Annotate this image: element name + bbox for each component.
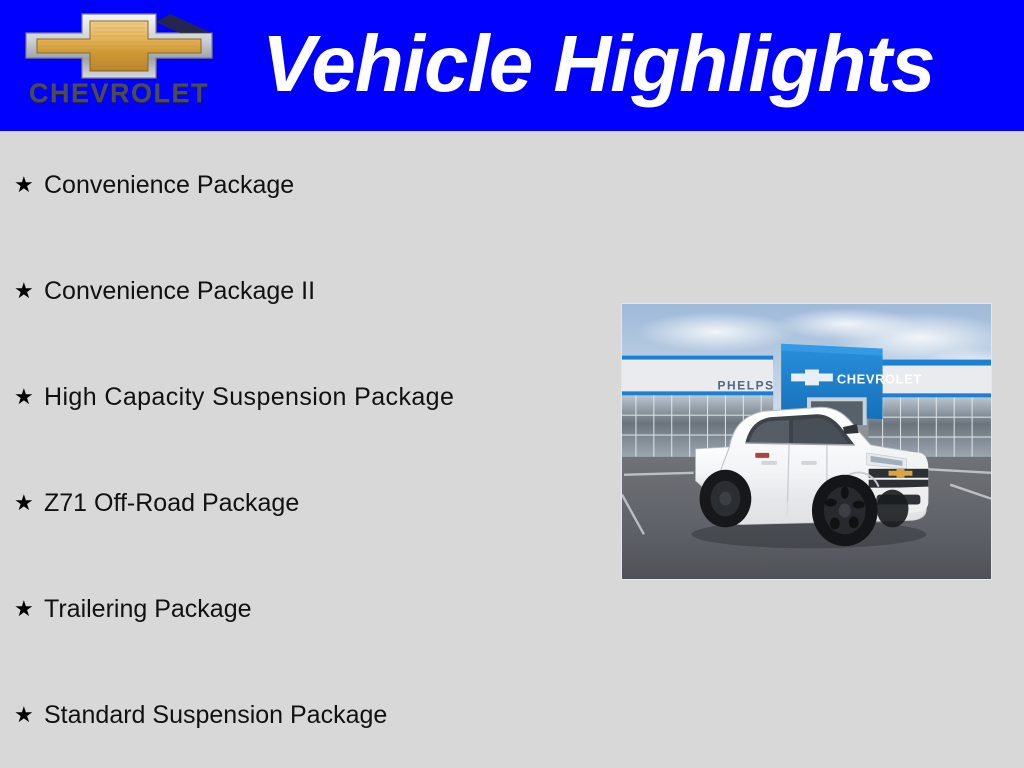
list-item: ★ Convenience Package [14, 169, 294, 201]
star-bullet-icon: ★ [14, 598, 44, 620]
star-bullet-icon: ★ [14, 704, 44, 726]
front-wheel [812, 475, 878, 546]
list-item-label: Z71 Off-Road Package [44, 491, 299, 516]
list-item-label: Convenience Package II [44, 279, 315, 304]
list-item-label: Standard Suspension Package [44, 703, 387, 728]
chevrolet-wordmark: CHEVROLET [20, 80, 218, 107]
list-item: ★ Standard Suspension Package [14, 699, 387, 731]
star-bullet-icon: ★ [14, 386, 44, 408]
chevrolet-bowtie-icon [20, 8, 218, 84]
header-bar: CHEVROLET Vehicle Highlights [0, 0, 1024, 131]
rear-wheel [700, 470, 752, 528]
vehicle-photo: PHELPS CHEVROLET [621, 303, 992, 580]
list-item: ★ Trailering Package [14, 593, 252, 625]
list-item-label: Convenience Package [44, 173, 294, 198]
dealership-sign-chevrolet: CHEVROLET [837, 371, 922, 386]
dealership-sign-phelps: PHELPS [717, 378, 774, 392]
list-item: ★ High Capacity Suspension Package [14, 381, 454, 413]
list-item-label: High Capacity Suspension Package [44, 385, 454, 410]
list-item: ★ Z71 Off-Road Package [14, 487, 299, 519]
star-bullet-icon: ★ [14, 174, 44, 196]
page-title: Vehicle Highlights [262, 14, 1014, 114]
star-bullet-icon: ★ [14, 280, 44, 302]
list-item: ★ Convenience Package II [14, 275, 315, 307]
star-bullet-icon: ★ [14, 492, 44, 514]
list-item-label: Trailering Package [44, 597, 252, 622]
chevrolet-logo: CHEVROLET [20, 8, 218, 120]
